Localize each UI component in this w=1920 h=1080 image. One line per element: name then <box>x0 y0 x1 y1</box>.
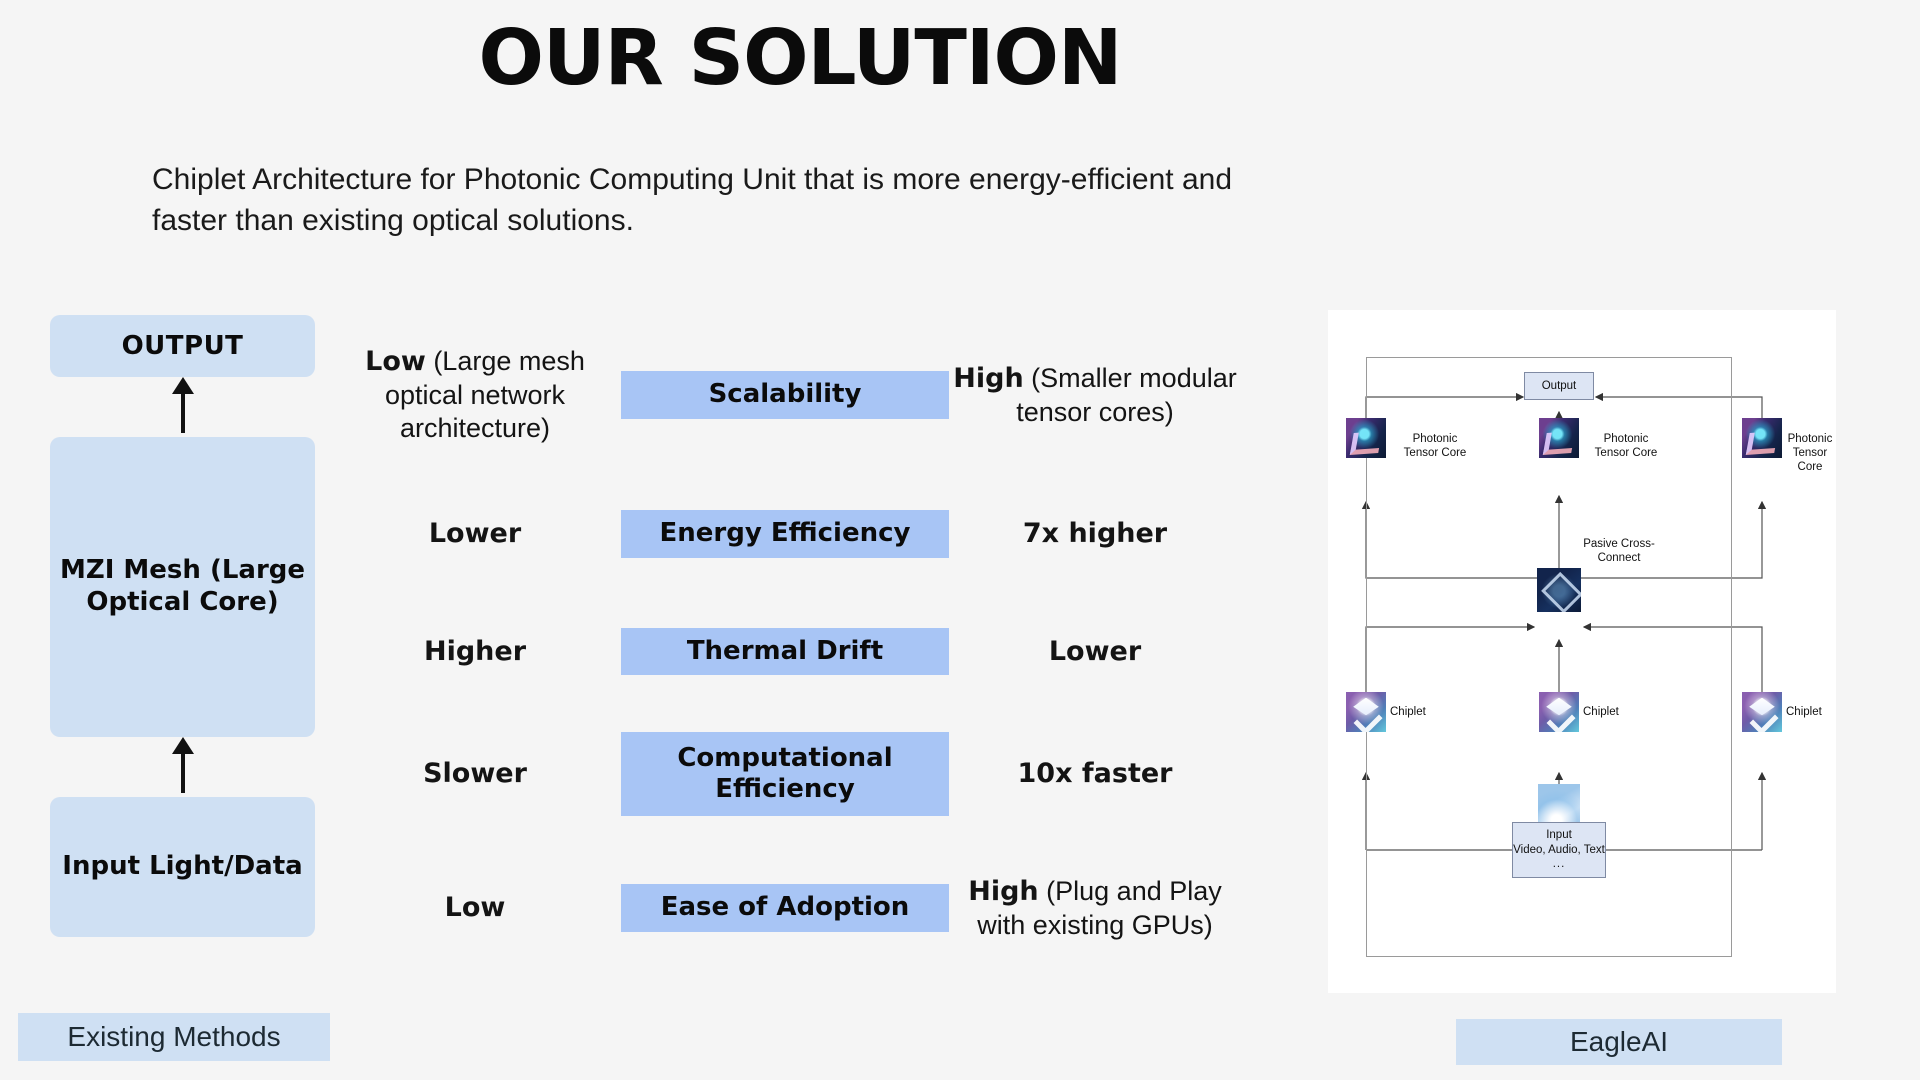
chiplet-thumbnail-icon <box>1742 692 1782 732</box>
value-emphasis: Slower <box>423 758 527 789</box>
existing-value-thermal-drift: Higher <box>330 635 620 669</box>
existing-value-computational-efficiency: Slower <box>330 757 620 791</box>
diagram-label-photonic-tensor-core-left: Photonic Tensor Core <box>1394 433 1476 461</box>
value-emphasis: 10x faster <box>1018 758 1173 789</box>
feature-cell-energy-efficiency: Energy Efficiency <box>620 510 950 557</box>
feature-pill-energy-efficiency: Energy Efficiency <box>621 510 949 557</box>
passive-cross-connect-thumbnail-icon <box>1537 568 1581 612</box>
flow-arrow-mesh-to-output <box>50 377 315 437</box>
flow-box-output: OUTPUT <box>50 315 315 377</box>
eagleai-value-thermal-drift: Lower <box>950 635 1240 669</box>
chiplet-thumbnail-icon <box>1346 692 1386 732</box>
badge-existing-methods: Existing Methods <box>18 1013 330 1061</box>
comparison-table: Low (Large mesh optical network architec… <box>330 315 1320 978</box>
value-emphasis: High <box>953 363 1023 394</box>
diagram-label-photonic-tensor-core-center: Photonic Tensor Core <box>1585 433 1667 461</box>
flow-arrow-input-to-mesh <box>50 737 315 797</box>
photonic-tensor-core-thumbnail-icon <box>1742 418 1782 458</box>
feature-pill-thermal-drift: Thermal Drift <box>621 628 949 675</box>
flow-box-mzi-mesh: MZI Mesh (Large Optical Core) <box>50 437 315 737</box>
feature-cell-scalability: Scalability <box>620 371 950 418</box>
value-emphasis: Low <box>365 346 426 377</box>
page-title: OUR SOLUTION <box>0 20 1600 97</box>
existing-value-ease-of-adoption: Low <box>330 891 620 925</box>
value-emphasis: Higher <box>424 636 526 667</box>
existing-value-energy-efficiency: Lower <box>330 517 620 551</box>
feature-cell-thermal-drift: Thermal Drift <box>620 628 950 675</box>
value-emphasis: Lower <box>429 518 521 549</box>
slide-root: OUR SOLUTION Chiplet Architecture for Ph… <box>0 0 1920 1080</box>
diagram-label-passive-cross-connect: Pasive Cross-Connect <box>1574 538 1664 566</box>
value-emphasis: Low <box>445 892 506 923</box>
diagram-input-line-2: Video, Audio, Text <box>1513 843 1605 857</box>
diagram-input-line-3: ... <box>1553 857 1566 871</box>
feature-pill-scalability: Scalability <box>621 371 949 418</box>
arrow-shaft <box>181 385 185 433</box>
value-emphasis: 7x higher <box>1023 518 1167 549</box>
existing-value-scalability: Low (Large mesh optical network architec… <box>330 345 620 445</box>
feature-pill-ease-of-adoption: Ease of Adoption <box>621 884 949 931</box>
eagleai-value-energy-efficiency: 7x higher <box>950 517 1240 551</box>
diagram-label-chiplet-right: Chiplet <box>1786 706 1822 720</box>
photonic-tensor-core-thumbnail-icon <box>1346 418 1386 458</box>
photonic-tensor-core-thumbnail-icon <box>1539 418 1579 458</box>
flow-box-input-light-data: Input Light/Data <box>50 797 315 937</box>
eagleai-architecture-card: Output Photonic Tensor Core Photonic Ten… <box>1328 310 1836 993</box>
existing-methods-flowchart: OUTPUT MZI Mesh (Large Optical Core) Inp… <box>50 315 315 937</box>
page-subtitle: Chiplet Architecture for Photonic Comput… <box>152 160 1312 241</box>
arrow-shaft <box>181 745 185 793</box>
architecture-diagram: Output Photonic Tensor Core Photonic Ten… <box>1328 310 1836 993</box>
diagram-label-chiplet-center: Chiplet <box>1583 706 1619 720</box>
diagram-node-input: Input Video, Audio, Text ... <box>1512 822 1606 878</box>
diagram-label-chiplet-left: Chiplet <box>1390 706 1426 720</box>
chiplet-thumbnail-icon <box>1539 692 1579 732</box>
table-row: Higher Thermal Drift Lower <box>330 593 1320 710</box>
diagram-node-output: Output <box>1524 372 1594 400</box>
eagleai-value-scalability: High (Smaller modular tensor cores) <box>950 362 1240 429</box>
table-row: Low (Large mesh optical network architec… <box>330 315 1320 475</box>
value-emphasis: High <box>968 876 1038 907</box>
table-row: Low Ease of Adoption High (Plug and Play… <box>330 838 1320 978</box>
value-emphasis: Lower <box>1049 636 1141 667</box>
table-row: Slower Computational Efficiency 10x fast… <box>330 710 1320 838</box>
table-row: Lower Energy Efficiency 7x higher <box>330 475 1320 593</box>
feature-cell-computational-efficiency: Computational Efficiency <box>620 732 950 816</box>
feature-cell-ease-of-adoption: Ease of Adoption <box>620 884 950 931</box>
badge-eagleai: EagleAI <box>1456 1019 1782 1065</box>
eagleai-value-ease-of-adoption: High (Plug and Play with existing GPUs) <box>950 875 1240 942</box>
diagram-input-line-1: Input <box>1546 828 1572 842</box>
diagram-label-photonic-tensor-core-right: Photonic Tensor Core <box>1783 433 1837 474</box>
eagleai-value-computational-efficiency: 10x faster <box>950 757 1240 791</box>
feature-pill-computational-efficiency: Computational Efficiency <box>621 732 949 816</box>
value-detail: (Smaller modular tensor cores) <box>1016 363 1237 427</box>
